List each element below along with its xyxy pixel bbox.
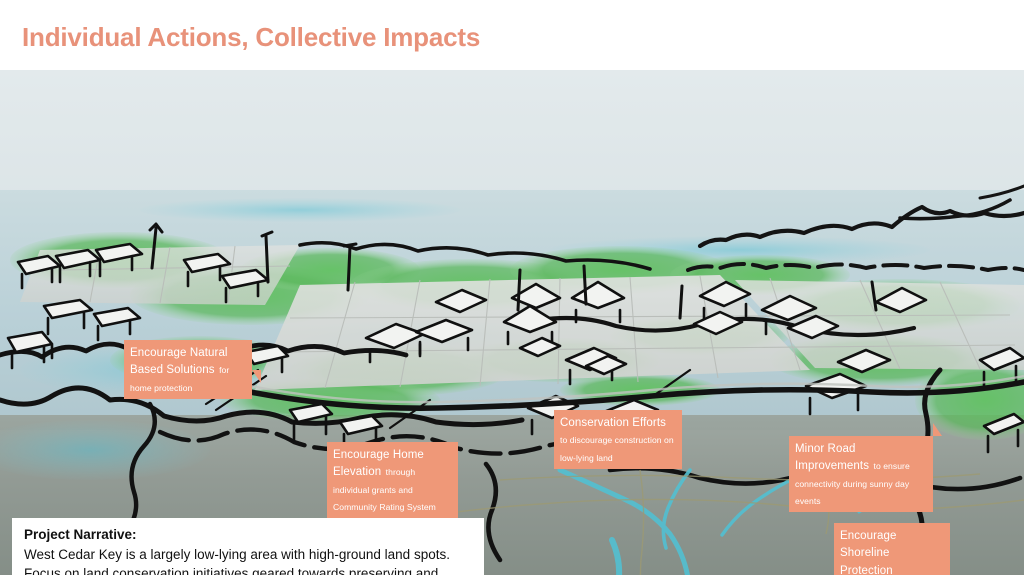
callout-3-headline: Minor Road Improvements [795, 443, 869, 472]
callout-minor-road-improvements[interactable]: Minor Road Improvements to ensure connec… [789, 436, 933, 512]
callout-natural-based-solutions[interactable]: Encourage Natural Based Solutions for ho… [124, 340, 252, 399]
narrative-body: West Cedar Key is a largely low-lying ar… [24, 545, 472, 575]
callout-2-subtext: to discourage construction on low-lying … [560, 435, 674, 462]
slide-header: Individual Actions, Collective Impacts [0, 0, 1024, 70]
callout-home-elevation[interactable]: Encourage Home Elevation through individ… [327, 442, 458, 518]
callout-3-pointer [933, 423, 942, 436]
callout-conservation-efforts[interactable]: Conservation Efforts to discourage const… [554, 410, 682, 469]
callout-0-headline: Encourage Natural Based Solutions [130, 347, 228, 376]
callout-4-headline: Encourage Shoreline Protection [840, 530, 897, 575]
narrative-title: Project Narrative: [24, 526, 472, 544]
page-title: Individual Actions, Collective Impacts [22, 22, 480, 53]
slide: Individual Actions, Collective Impacts [0, 0, 1024, 575]
callout-0-pointer [252, 370, 261, 383]
aerial-rendering: Encourage Natural Based Solutions for ho… [0, 70, 1024, 575]
callout-shoreline-protection[interactable]: Encourage Shoreline Protection [834, 523, 950, 575]
callout-2-headline: Conservation Efforts [560, 417, 666, 429]
project-narrative-box: Project Narrative: West Cedar Key is a l… [12, 518, 484, 575]
